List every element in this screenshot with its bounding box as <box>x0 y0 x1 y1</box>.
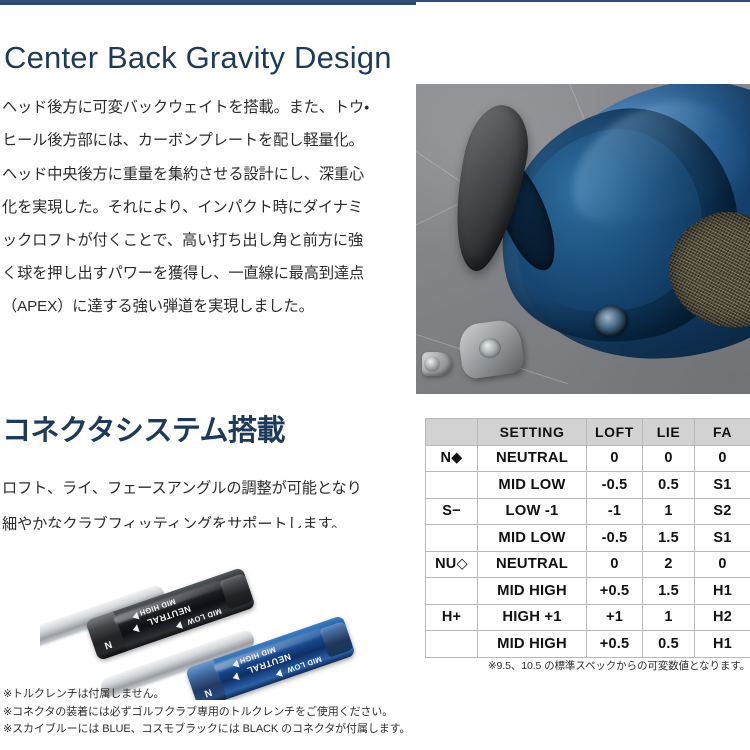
cell-fa: H2 <box>695 604 750 631</box>
footnotes-block: ※トルクレンチは付属しません。 ※コネクタの装着には必ずゴルフクラブ専用のトルク… <box>3 686 433 739</box>
driver-head-render <box>416 84 750 394</box>
column-header-lie: LIE <box>643 419 695 446</box>
cell-loft: -0.5 <box>587 472 643 499</box>
cell-lie: 1 <box>643 604 695 631</box>
cell-fa: 0 <box>695 445 750 472</box>
cell-code: H+ <box>426 604 478 631</box>
cell-lie: 1 <box>643 498 695 525</box>
table-row: MID LOW-0.51.5S1 <box>426 525 750 552</box>
cell-loft: +1 <box>587 604 643 631</box>
cell-loft: 0 <box>587 445 643 472</box>
cell-loft: -1 <box>587 498 643 525</box>
table-row: H+HIGH +1+11H2 <box>426 604 750 631</box>
cell-code <box>426 578 478 605</box>
page-title: Center Back Gravity Design <box>4 39 392 77</box>
cell-code <box>426 472 478 499</box>
gravity-description-text: ヘッド後方に可変バックウェイトを搭載。また、トウ・ヒール後方部には、カーボンプレ… <box>2 91 374 323</box>
cell-fa: S2 <box>695 498 750 525</box>
cell-loft: +0.5 <box>587 631 643 658</box>
connector-sleeves-photo: NEUTRAL MID HIGH MID LOW N NEUTRAL MID H… <box>40 528 458 700</box>
heading-divider-connector <box>0 2 416 5</box>
cell-lie: 1.5 <box>643 578 695 605</box>
footnote-item: ※トルクレンチは付属しません。 <box>3 686 433 704</box>
spec-table-note: ※9.5、10.5 の標準スペックからの可変数値となります。 <box>425 658 750 673</box>
column-header-fa: FA <box>695 419 750 446</box>
table-row: MID LOW-0.50.5S1 <box>426 472 750 499</box>
cell-setting: HIGH +1 <box>478 604 587 631</box>
cell-loft: +0.5 <box>587 578 643 605</box>
sleeve-arrow-icon <box>231 672 239 682</box>
footnote-item: ※スカイブルーには BLUE、コスモブラックには BLACK のコネクタが付属し… <box>3 721 433 739</box>
cell-code: S− <box>426 498 478 525</box>
cell-setting: MID LOW <box>478 472 587 499</box>
table-header-row: SETTING LOFT LIE FA <box>426 419 750 446</box>
cell-code <box>426 525 478 552</box>
cell-code: NU◇ <box>426 551 478 578</box>
table-row: S−LOW -1-11S2 <box>426 498 750 525</box>
cell-fa: S1 <box>695 525 750 552</box>
table-row: MID HIGH+0.51.5H1 <box>426 578 750 605</box>
cell-fa: 0 <box>695 551 750 578</box>
cell-setting: MID HIGH <box>478 631 587 658</box>
weight-screw <box>422 352 452 376</box>
table-row: N◆NEUTRAL000 <box>426 445 750 472</box>
cell-setting: NEUTRAL <box>478 445 587 472</box>
cell-fa: H1 <box>695 578 750 605</box>
cell-setting: MID HIGH <box>478 578 587 605</box>
column-header-setting: SETTING <box>478 419 587 446</box>
cell-lie: 1.5 <box>643 525 695 552</box>
cell-lie: 0.5 <box>643 472 695 499</box>
column-header-code <box>426 419 478 446</box>
cell-lie: 0.5 <box>643 631 695 658</box>
cell-lie: 2 <box>643 551 695 578</box>
table-row: MID HIGH+0.50.5H1 <box>426 631 750 658</box>
cell-setting: LOW -1 <box>478 498 587 525</box>
back-weight <box>457 318 526 380</box>
cell-lie: 0 <box>643 445 695 472</box>
cell-loft: 0 <box>587 551 643 578</box>
sleeve-tip <box>319 621 353 658</box>
cell-loft: -0.5 <box>587 525 643 552</box>
sleeve-arrow-icon <box>131 624 139 634</box>
sleeve-arrow-icon <box>175 621 183 631</box>
cell-code: N◆ <box>426 445 478 472</box>
column-header-loft: LOFT <box>587 419 643 446</box>
cell-fa: H1 <box>695 631 750 658</box>
cell-setting: NEUTRAL <box>478 551 587 578</box>
table-row: NU◇NEUTRAL020 <box>426 551 750 578</box>
cell-fa: S1 <box>695 472 750 499</box>
spec-table-container: SETTING LOFT LIE FA N◆NEUTRAL000MID LOW-… <box>425 418 750 658</box>
connector-section-title: コネクタシステム搭載 <box>2 413 285 449</box>
cell-code <box>426 631 478 658</box>
footnote-item: ※コネクタの装着には必ずゴルフクラブ専用のトルクレンチをご使用ください。 <box>3 704 433 722</box>
sleeve-tip <box>219 573 253 610</box>
loft-lie-fa-table: SETTING LOFT LIE FA N◆NEUTRAL000MID LOW-… <box>425 418 750 658</box>
sleeve-arrow-icon <box>275 669 283 679</box>
cell-setting: MID LOW <box>478 525 587 552</box>
